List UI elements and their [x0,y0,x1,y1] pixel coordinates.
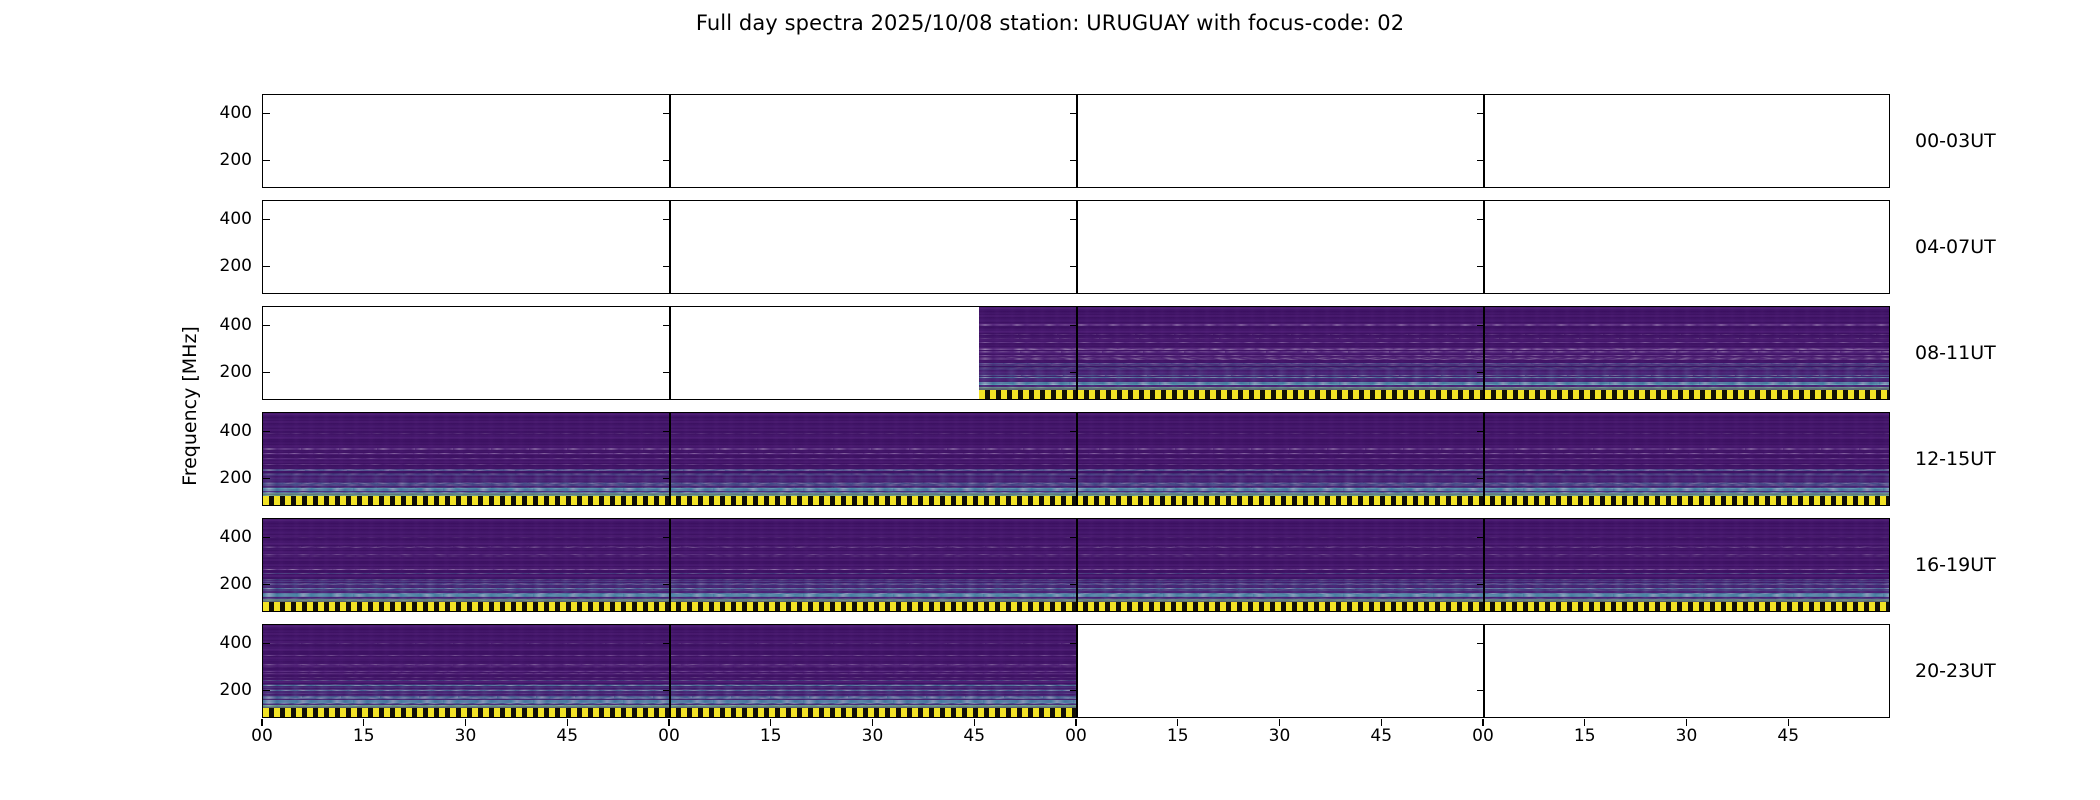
row-label-00-03ut: 00-03UT [1915,130,1996,152]
emission-streak [263,470,1889,471]
y-tick-mark [663,431,670,432]
emission-streak [263,671,1077,672]
bright-emission-band [263,594,1889,597]
y-tick-label: 400 [192,633,252,653]
y-tick-mark [1477,160,1484,161]
x-tick-mark [1177,719,1178,726]
y-tick-mark [1477,478,1484,479]
y-tick-mark [663,372,670,373]
y-tick-label: 200 [192,150,252,170]
panel-plot-area [263,95,1889,187]
page-title: Full day spectra 2025/10/08 station: URU… [0,11,2100,35]
y-tick-mark [263,431,270,432]
y-tick-mark [663,584,670,585]
emission-streak [263,677,1077,678]
x-tick-mark [261,719,262,726]
emission-streak [263,643,1077,644]
x-tick-mark [1482,719,1483,726]
emission-streak [979,352,1889,353]
emission-streak [263,703,1077,704]
y-tick-mark [1477,643,1484,644]
emission-streak [979,349,1889,350]
spectrogram-data [263,519,1889,611]
y-axis-label: Frequency [MHz] [179,326,201,486]
emission-streak [263,680,1077,681]
y-tick-mark [1477,219,1484,220]
emission-streak [263,685,1077,686]
x-tick-label: 30 [1250,726,1310,746]
emission-streak [263,697,1077,699]
row-label-20-23ut: 20-23UT [1915,660,1996,682]
spectrogram-panel-16-19ut[interactable] [262,518,1890,612]
emission-streak [263,664,1077,665]
x-tick-label: 15 [334,726,394,746]
x-tick-label: 30 [1657,726,1717,746]
y-tick-mark [1477,325,1484,326]
y-tick-label: 200 [192,574,252,594]
y-tick-label: 200 [192,680,252,700]
bright-emission-band [263,488,1889,491]
spectrogram-figure: Full day spectra 2025/10/08 station: URU… [0,0,2100,800]
y-tick-label: 200 [192,256,252,276]
emission-streak [979,342,1889,343]
x-tick-mark [363,719,364,726]
x-tick-mark [974,719,975,726]
x-tick-label: 45 [1351,726,1411,746]
emission-streak [979,367,1889,368]
x-tick-mark [1279,719,1280,726]
emission-streak [979,351,1889,352]
saturation-band [263,496,1889,505]
bright-emission-band [263,700,1077,703]
panel-separator-line [1483,95,1484,187]
x-tick-mark [668,719,669,726]
y-tick-mark [663,537,670,538]
y-tick-label: 400 [192,209,252,229]
y-tick-mark [1070,643,1077,644]
x-tick-label: 15 [1555,726,1615,746]
y-tick-mark [1070,160,1077,161]
emission-streak [979,359,1889,360]
x-tick-label: 00 [1046,726,1106,746]
row-label-04-07ut: 04-07UT [1915,236,1996,258]
emission-streak [263,579,1889,580]
x-tick-mark [567,719,568,726]
emission-streak [979,355,1889,356]
y-tick-mark [663,160,670,161]
y-tick-mark [263,584,270,585]
emission-streak [263,555,1889,557]
y-tick-mark [263,478,270,479]
emission-streak [263,469,1889,470]
y-tick-mark [263,160,270,161]
row-label-16-19ut: 16-19UT [1915,554,1996,576]
emission-streak [263,593,1889,594]
emission-streak [263,547,1889,548]
bright-emission-band [979,382,1889,385]
emission-streak [263,581,1889,582]
emission-streak [979,364,1889,366]
y-tick-mark [1070,537,1077,538]
spectrogram-data [263,625,1077,717]
y-tick-mark [1070,219,1077,220]
emission-streak [263,482,1889,483]
spectrogram-data [263,413,1889,505]
y-tick-mark [263,537,270,538]
spectrogram-data [979,307,1889,399]
emission-streak [979,334,1889,335]
emission-streak [263,470,1889,471]
emission-streak [979,324,1889,326]
row-label-12-15ut: 12-15UT [1915,448,1996,470]
y-tick-label: 400 [192,527,252,547]
emission-streak [263,487,1889,488]
emission-streak [263,588,1889,589]
panel-plot-area [263,307,1889,399]
emission-streak [263,673,1077,674]
y-tick-mark [1070,690,1077,691]
spectrogram-panel-00-03ut[interactable] [262,94,1890,188]
emission-streak [263,589,1889,590]
emission-streak [263,453,1889,454]
y-tick-label: 400 [192,103,252,123]
y-tick-mark [1477,584,1484,585]
y-tick-mark [263,372,270,373]
emission-streak [263,590,1889,591]
panel-plot-area [263,201,1889,293]
x-tick-mark [465,719,466,726]
emission-streak [263,595,1889,596]
y-tick-mark [663,325,670,326]
emission-streak [263,696,1077,698]
y-tick-mark [1070,584,1077,585]
spectrogram-panel-08-11ut[interactable] [262,306,1890,400]
y-tick-mark [1070,325,1077,326]
y-tick-mark [1070,266,1077,267]
x-tick-label: 00 [639,726,699,746]
panel-plot-area [263,413,1889,505]
emission-streak [263,483,1889,484]
y-tick-label: 200 [192,468,252,488]
y-tick-mark [263,113,270,114]
x-tick-label: 15 [741,726,801,746]
spectrogram-panel-12-15ut[interactable] [262,412,1890,506]
emission-streak [263,588,1889,589]
y-tick-mark [663,478,670,479]
saturation-band [979,390,1889,399]
spectrogram-panel-20-23ut[interactable] [262,624,1890,718]
row-label-08-11ut: 08-11UT [1915,342,1996,364]
emission-streak [979,384,1889,385]
emission-streak [263,594,1889,595]
emission-streak [979,348,1889,350]
x-tick-label: 00 [232,726,292,746]
emission-streak [263,569,1889,570]
y-tick-label: 200 [192,362,252,382]
y-tick-mark [663,113,670,114]
x-tick-label: 45 [944,726,1004,746]
saturation-band [263,708,1077,717]
x-tick-label: 00 [1453,726,1513,746]
x-tick-mark [1075,719,1076,726]
emission-streak [263,690,1077,691]
emission-streak [263,702,1077,703]
x-tick-mark [1686,719,1687,726]
emission-streak [979,365,1889,366]
y-tick-mark [1070,113,1077,114]
x-tick-label: 45 [537,726,597,746]
y-tick-mark [263,325,270,326]
emission-streak [263,448,1889,450]
emission-streak [263,458,1889,459]
emission-streak [263,666,1077,668]
x-tick-label: 30 [843,726,903,746]
y-tick-mark [263,219,270,220]
emission-streak [263,593,1889,594]
y-tick-mark [1070,478,1077,479]
emission-streak [263,488,1889,489]
panel-separator-line [1483,625,1484,717]
y-tick-label: 400 [192,315,252,335]
panel-separator-line [669,95,670,187]
y-tick-label: 400 [192,421,252,441]
y-tick-mark [663,643,670,644]
emission-streak [263,593,1889,594]
y-tick-mark [1477,431,1484,432]
emission-streak [979,377,1889,378]
y-tick-mark [1477,113,1484,114]
emission-streak [263,573,1889,574]
panel-plot-area [263,625,1889,717]
y-tick-mark [663,266,670,267]
emission-streak [263,588,1889,589]
emission-streak [263,473,1889,475]
y-tick-mark [1070,431,1077,432]
emission-streak [979,375,1889,376]
x-tick-label: 45 [1758,726,1818,746]
emission-streak [263,684,1077,685]
y-tick-mark [263,690,270,691]
x-tick-mark [1381,719,1382,726]
emission-streak [263,690,1077,691]
emission-streak [263,698,1077,699]
y-tick-mark [663,690,670,691]
emission-streak [263,689,1077,690]
y-tick-mark [263,266,270,267]
emission-streak [263,569,1889,570]
emission-streak [263,655,1077,656]
emission-streak [979,357,1889,358]
x-tick-mark [770,719,771,726]
y-tick-mark [1070,372,1077,373]
emission-streak [263,464,1889,465]
emission-streak [263,484,1889,486]
emission-streak [979,377,1889,378]
panel-separator-line [1483,201,1484,293]
y-tick-mark [1477,266,1484,267]
emission-streak [263,433,1889,434]
x-tick-mark [1788,719,1789,726]
x-tick-label: 15 [1148,726,1208,746]
panel-separator-line [669,201,670,293]
x-tick-label: 30 [436,726,496,746]
emission-streak [263,554,1889,555]
panel-plot-area [263,519,1889,611]
spectrogram-panel-04-07ut[interactable] [262,200,1890,294]
emission-streak [263,685,1077,686]
x-tick-mark [1584,719,1585,726]
emission-streak [979,351,1889,352]
emission-streak [263,464,1889,465]
y-tick-mark [263,643,270,644]
panel-separator-line [1076,201,1077,293]
panel-separator-line [1076,95,1077,187]
emission-streak [263,693,1077,694]
y-tick-mark [1477,690,1484,691]
emission-streak [979,338,1889,339]
saturation-band [263,602,1889,611]
y-tick-mark [663,219,670,220]
emission-streak [979,358,1889,359]
x-tick-mark [872,719,873,726]
panel-separator-line [669,307,670,399]
y-tick-mark [1477,372,1484,373]
emission-streak [979,368,1889,369]
emission-streak [979,363,1889,364]
y-tick-mark [1477,537,1484,538]
emission-streak [263,664,1077,666]
emission-streak [263,546,1889,547]
